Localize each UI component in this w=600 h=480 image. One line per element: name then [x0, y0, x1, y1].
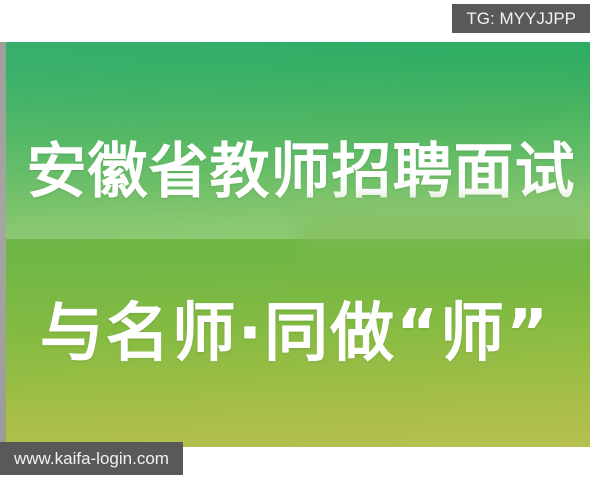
promo-poster: 安徽省教师招聘面试 与名师·同做“师”: [0, 42, 590, 447]
poster-headline-line-2: 与名师·同做“师”: [0, 298, 590, 370]
screenshot-canvas: 安徽省教师招聘面试 与名师·同做“师” TG: MYYJJPP www.kaif…: [0, 0, 600, 480]
poster-top-panel: 安徽省教师招聘面试: [6, 42, 590, 239]
poster-headline-line-1: 安徽省教师招聘面试: [6, 138, 590, 206]
site-watermark-badge: www.kaifa-login.com: [0, 442, 183, 475]
telegram-channel-badge: TG: MYYJJPP: [452, 4, 590, 33]
